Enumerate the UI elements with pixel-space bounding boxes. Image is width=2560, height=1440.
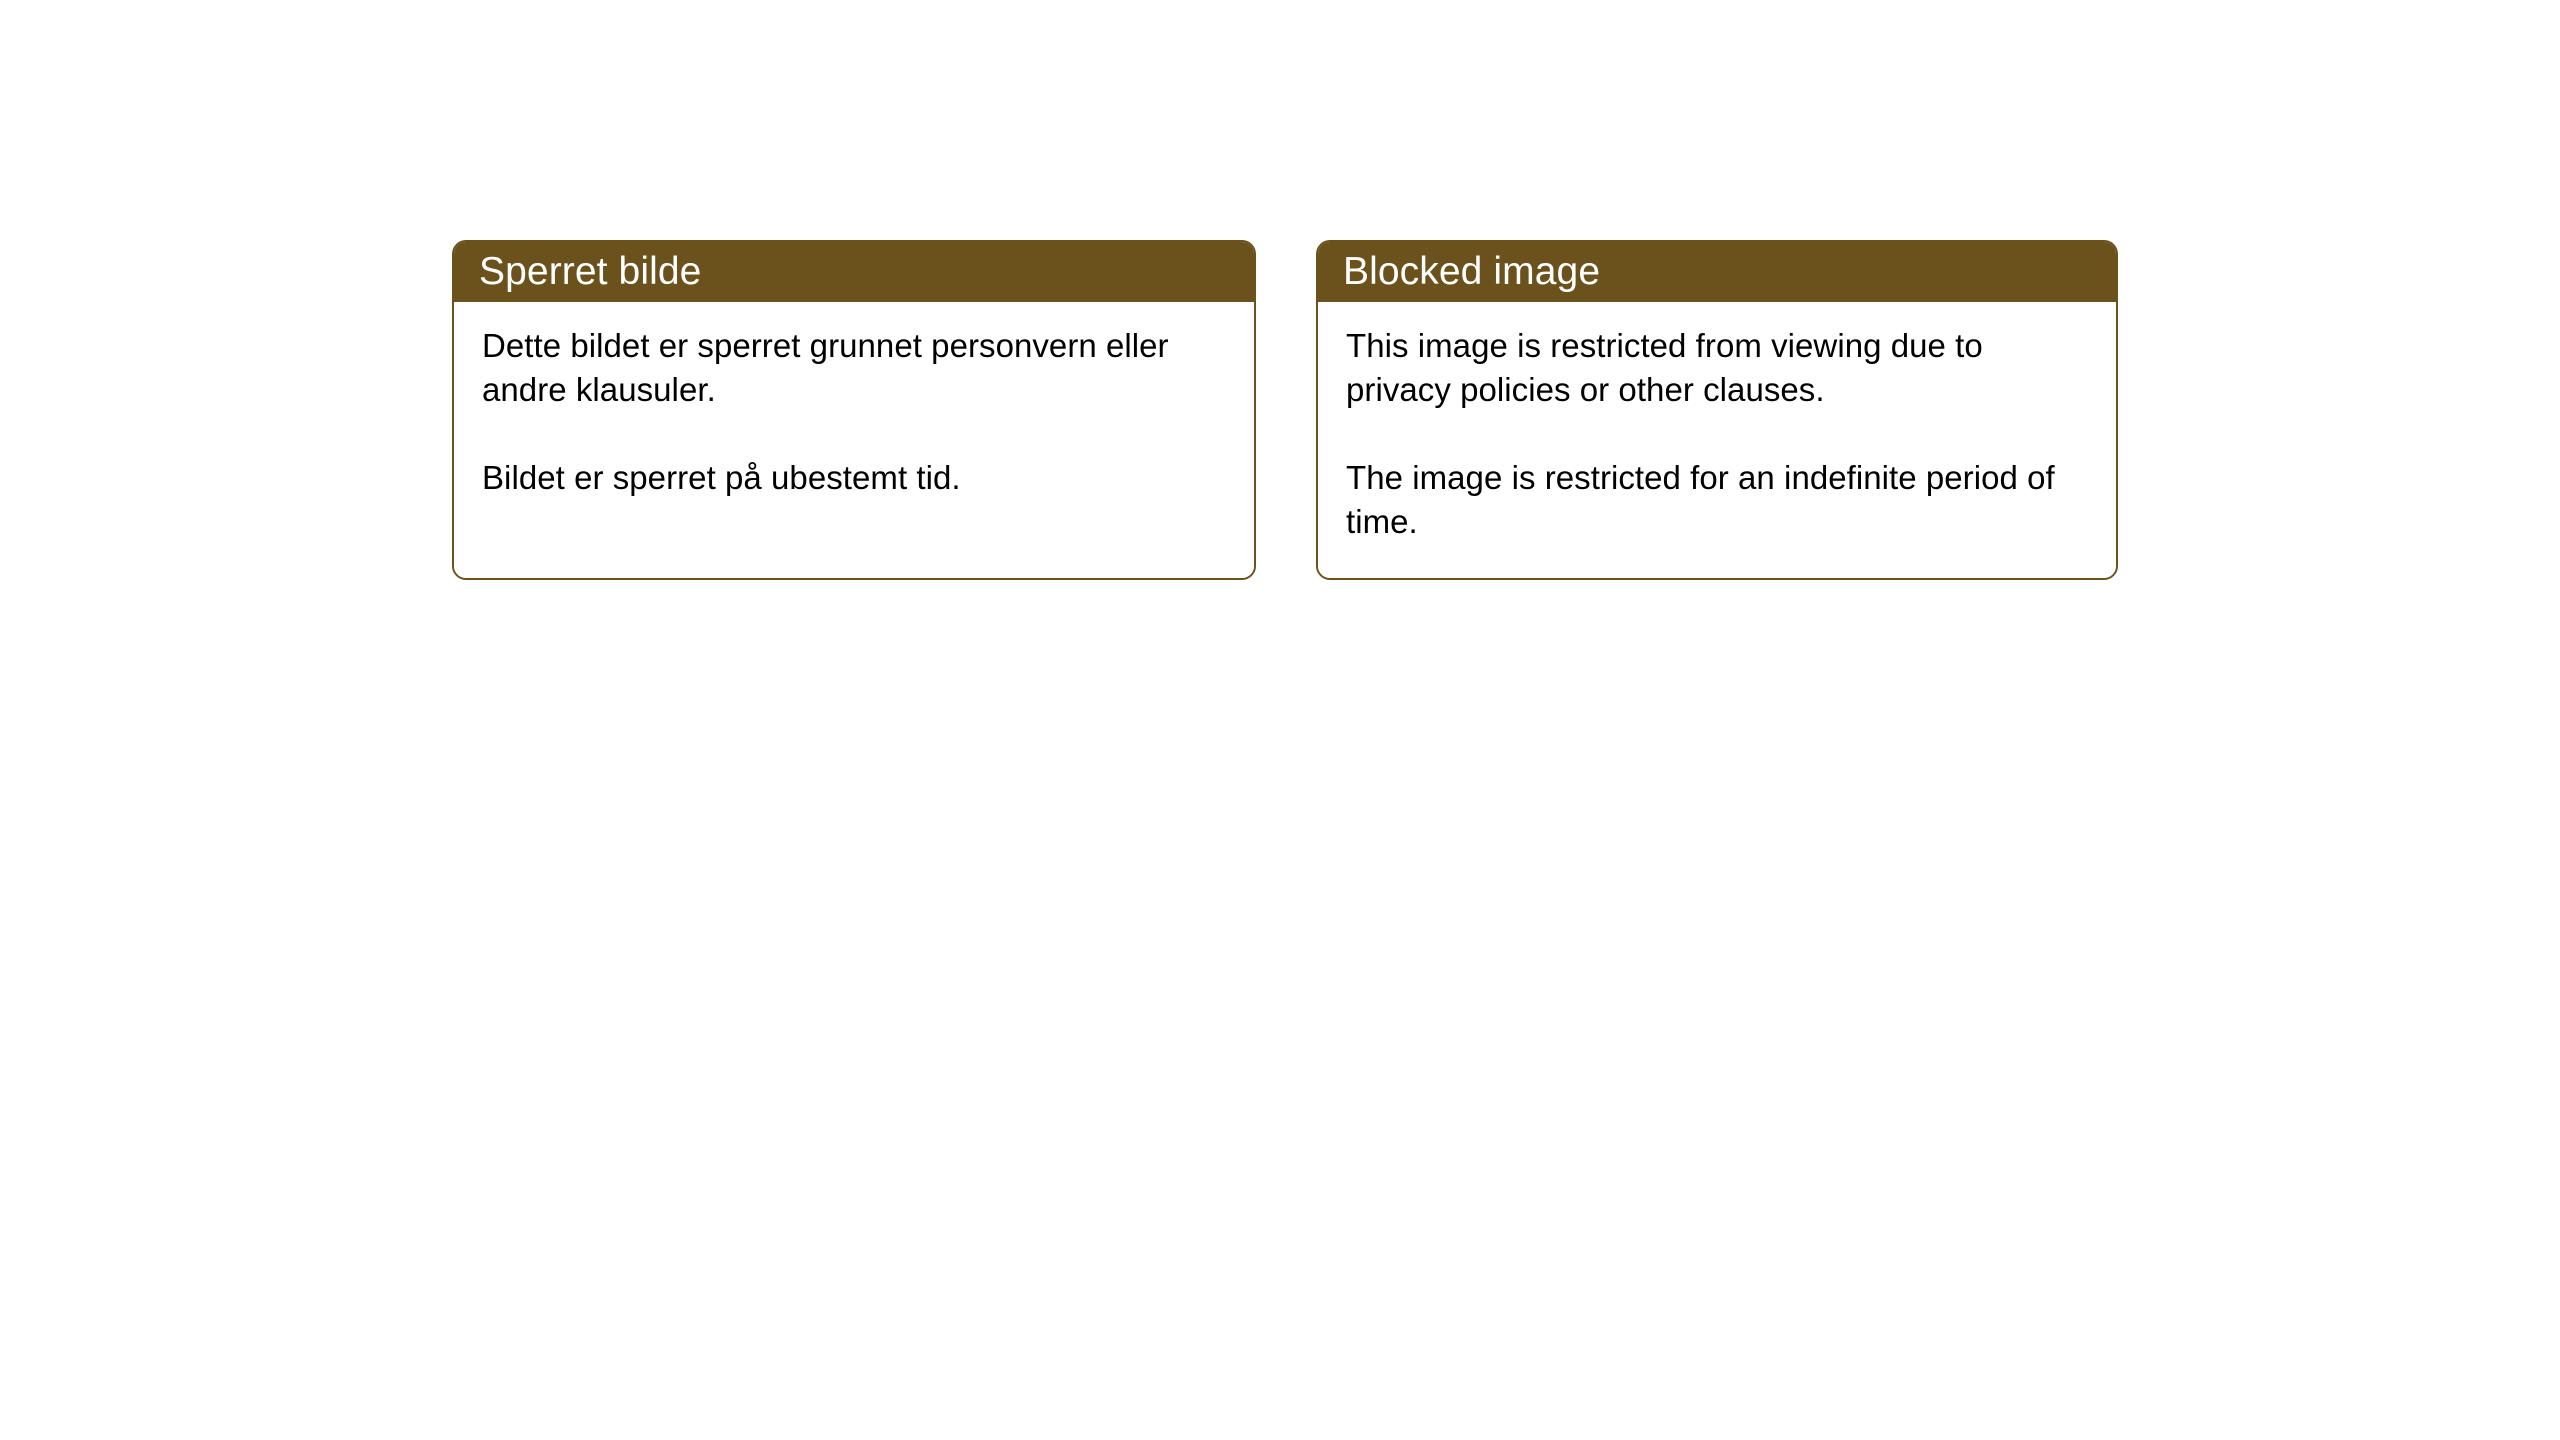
card-title-no: Sperret bilde	[479, 252, 701, 291]
card-body-en: This image is restricted from viewing du…	[1318, 302, 2116, 578]
blocked-image-notice-card-no: Sperret bilde Dette bildet er sperret gr…	[452, 240, 1256, 580]
card-title-en: Blocked image	[1343, 252, 1600, 291]
blocked-image-notice-card-en: Blocked image This image is restricted f…	[1316, 240, 2118, 580]
page-root: Sperret bilde Dette bildet er sperret gr…	[0, 0, 2560, 1440]
card-header-en: Blocked image	[1317, 241, 2117, 302]
card-body-no: Dette bildet er sperret grunnet personve…	[454, 302, 1254, 578]
card-header-no: Sperret bilde	[453, 241, 1255, 302]
card-paragraph-no-1: Dette bildet er sperret grunnet personve…	[482, 324, 1228, 412]
card-paragraph-en-1: This image is restricted from viewing du…	[1346, 324, 2090, 412]
card-paragraph-en-2: The image is restricted for an indefinit…	[1346, 456, 2090, 544]
card-paragraph-no-2: Bildet er sperret på ubestemt tid.	[482, 456, 1228, 500]
